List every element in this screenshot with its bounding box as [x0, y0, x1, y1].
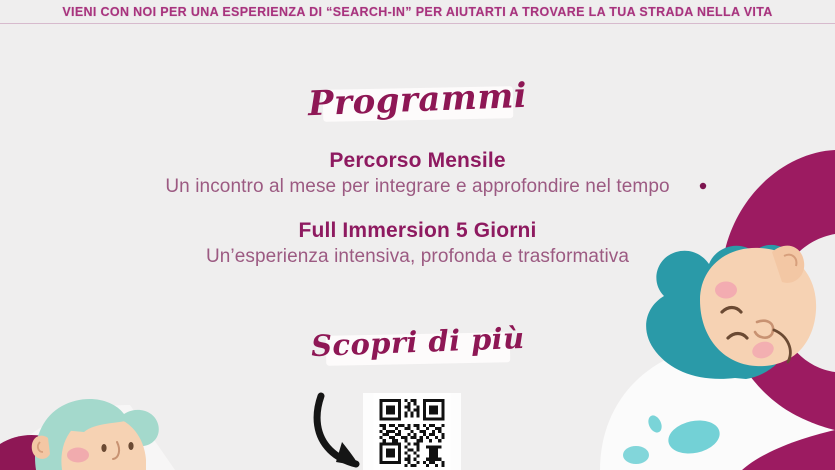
program-title: Percorso Mensile	[0, 148, 835, 174]
programmi-heading-text: Programmi	[307, 76, 528, 124]
program-item: Percorso Mensile Un incontro al mese per…	[0, 148, 835, 201]
banner-text: VIENI CON NOI PER UNA ESPERIENZA DI “SEA…	[62, 5, 772, 19]
cartoon-face-mint-hair	[0, 399, 159, 470]
qr-code[interactable]	[363, 393, 461, 470]
program-item: Full Immersion 5 Giorni Un’esperienza in…	[0, 218, 835, 271]
slide-canvas: VIENI CON NOI PER UNA ESPERIENZA DI “SEA…	[0, 0, 835, 470]
banner-divider	[0, 23, 835, 24]
program-title: Full Immersion 5 Giorni	[0, 218, 835, 244]
scopri-di-piu-heading: Scopri di più	[0, 320, 835, 370]
qr-code-graphic	[363, 393, 461, 470]
program-description: Un’esperienza intensiva, profonda e tras…	[0, 244, 835, 271]
program-description: Un incontro al mese per integrare e appr…	[0, 174, 835, 201]
top-banner: VIENI CON NOI PER UNA ESPERIENZA DI “SEA…	[0, 0, 835, 24]
programmi-heading: Programmi	[0, 74, 835, 126]
program-list: Percorso Mensile Un incontro al mese per…	[0, 148, 835, 288]
